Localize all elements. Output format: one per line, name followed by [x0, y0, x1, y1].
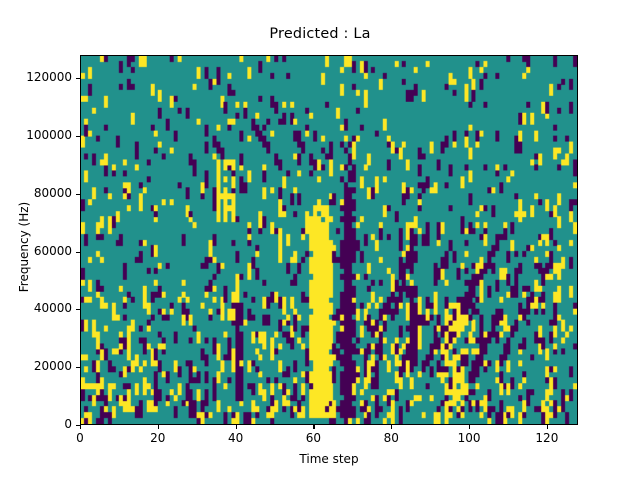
- y-tick: [76, 425, 80, 426]
- y-tick-label: 120000: [6, 70, 72, 84]
- heatmap-axes: [80, 55, 578, 425]
- x-tick-label: 120: [512, 431, 582, 445]
- figure-canvas: Predicted : La 0204060801001200200004000…: [0, 0, 640, 480]
- chart-title: Predicted : La: [0, 26, 640, 42]
- y-tick: [76, 194, 80, 195]
- x-tick-label: 100: [434, 431, 504, 445]
- x-tick: [391, 425, 392, 429]
- heatmap-image: [81, 56, 577, 424]
- x-tick-label: 20: [123, 431, 193, 445]
- x-tick: [236, 425, 237, 429]
- x-axis-label: Time step: [80, 452, 578, 466]
- y-tick: [76, 252, 80, 253]
- y-tick-label: 0: [6, 417, 72, 431]
- y-tick: [76, 78, 80, 79]
- y-tick: [76, 309, 80, 310]
- y-tick-label: 80000: [6, 186, 72, 200]
- y-tick: [76, 367, 80, 368]
- y-tick-label: 20000: [6, 359, 72, 373]
- x-tick: [547, 425, 548, 429]
- y-tick-label: 100000: [6, 128, 72, 142]
- x-tick: [469, 425, 470, 429]
- x-tick-label: 0: [45, 431, 115, 445]
- x-tick: [80, 425, 81, 429]
- x-tick-label: 40: [201, 431, 271, 445]
- x-tick: [313, 425, 314, 429]
- x-tick: [158, 425, 159, 429]
- y-tick: [76, 136, 80, 137]
- y-tick-label: 60000: [6, 244, 72, 258]
- x-tick-label: 60: [278, 431, 348, 445]
- y-tick-label: 40000: [6, 301, 72, 315]
- x-tick-label: 80: [356, 431, 426, 445]
- y-axis-label: Frequency (Hz): [17, 137, 31, 357]
